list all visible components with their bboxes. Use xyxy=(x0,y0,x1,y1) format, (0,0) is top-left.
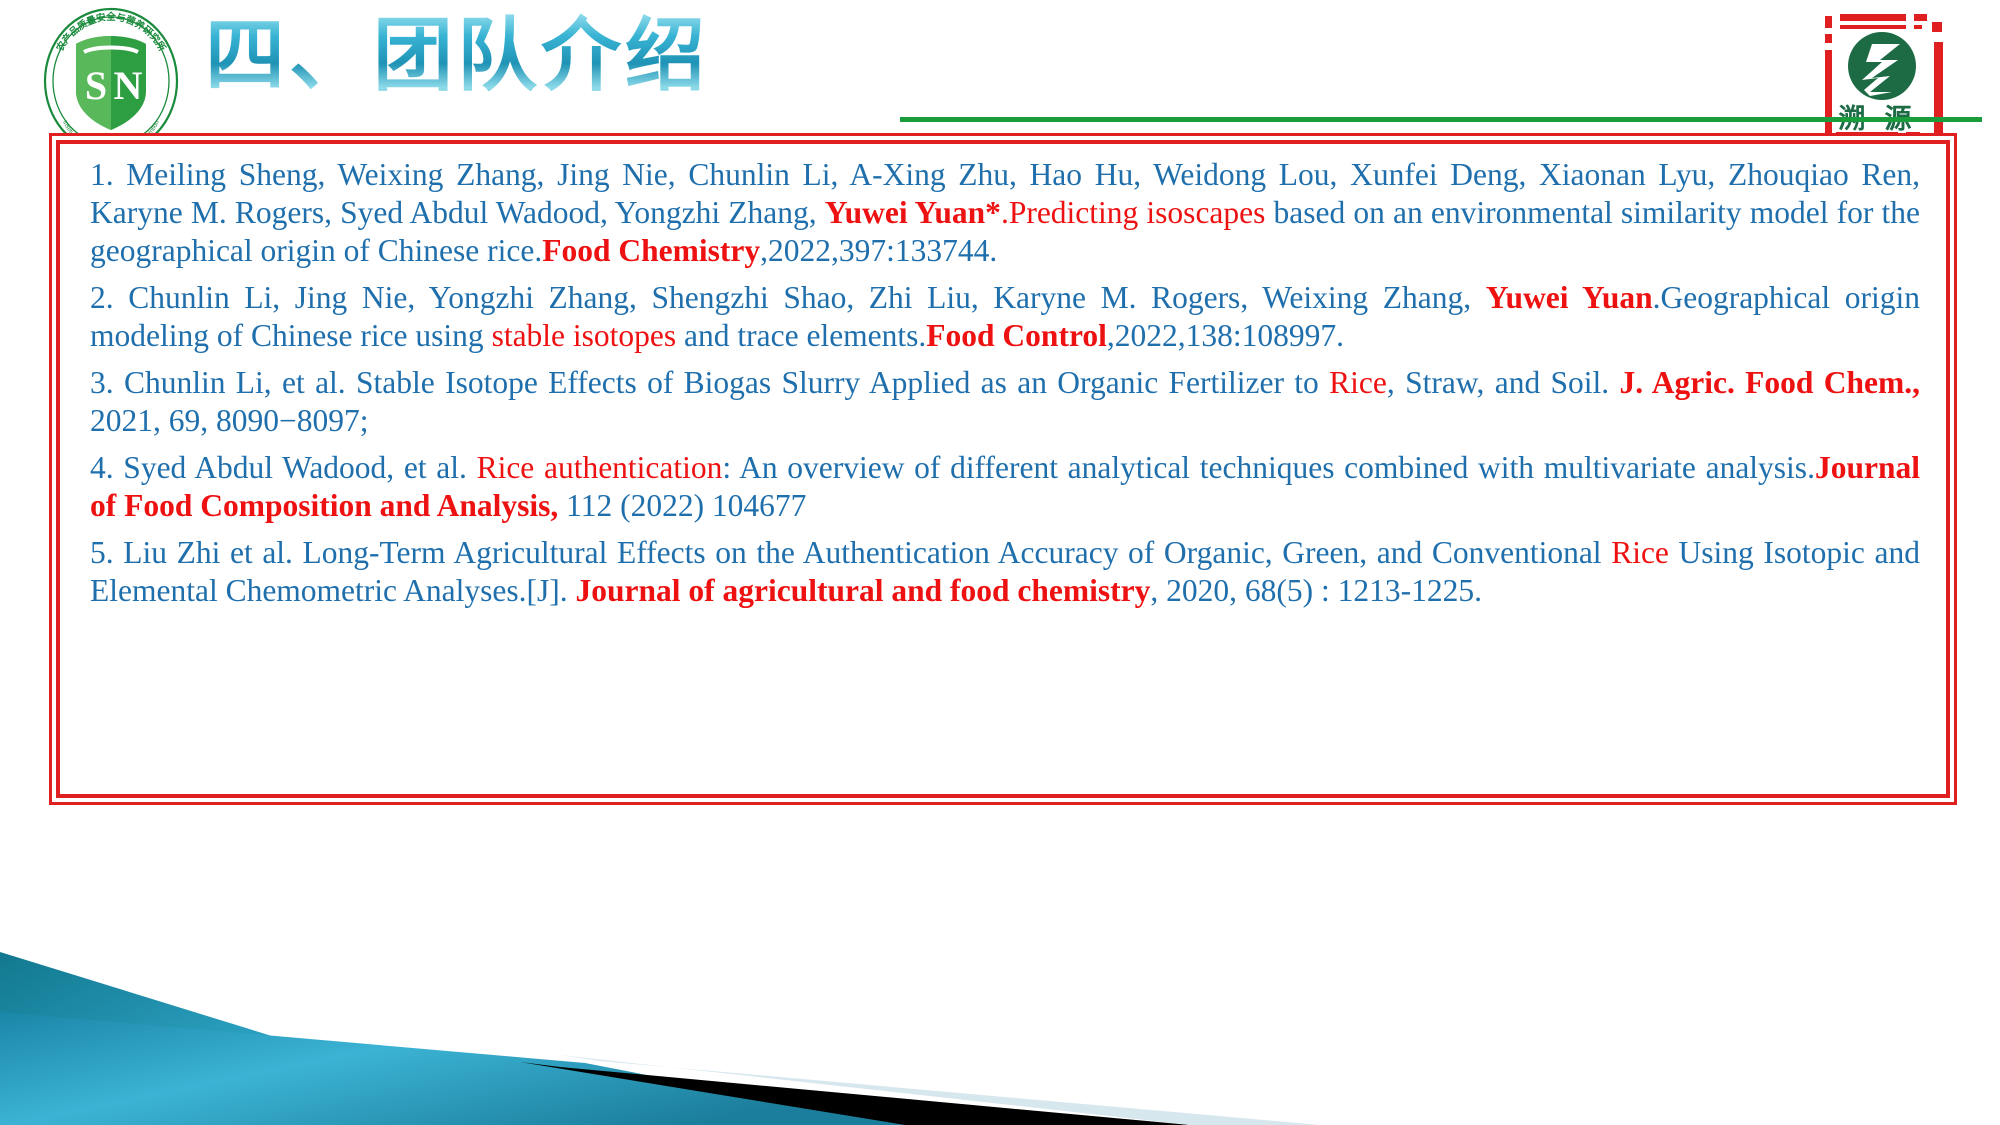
reference-segment: Food Chemistry xyxy=(542,233,760,268)
references-list: 1. Meiling Sheng, Weixing Zhang, Jing Ni… xyxy=(90,156,1920,609)
ribbon-teal-upper xyxy=(0,952,560,1125)
reference-segment: ,2022,138:108997. xyxy=(1107,318,1344,353)
reference-segment: : An overview of different analytical te… xyxy=(722,450,1815,485)
ribbon-black xyxy=(520,1062,1190,1125)
page-title: 四、团队介绍 xyxy=(205,10,709,102)
reference-segment: 3. Chunlin Li, et al. Stable Isotope Eff… xyxy=(90,365,1329,400)
reference-segment: Rice authentication xyxy=(477,450,723,485)
reference-segment: 4. Syed Abdul Wadood, et al. xyxy=(90,450,477,485)
reference-segment: Yuwei Yuan xyxy=(1486,280,1653,315)
traceability-logo: 溯 源 xyxy=(1814,4,1982,144)
reference-item: 5. Liu Zhi et al. Long-Term Agricultural… xyxy=(90,534,1920,610)
reference-segment: Journal of agricultural and food chemist… xyxy=(576,573,1151,608)
reference-segment: 2. Chunlin Li, Jing Nie, Yongzhi Zhang, … xyxy=(90,280,1486,315)
reference-segment: isoscapes xyxy=(1146,195,1265,230)
reference-item: 1. Meiling Sheng, Weixing Zhang, Jing Ni… xyxy=(90,156,1920,270)
reference-item: 3. Chunlin Li, et al. Stable Isotope Eff… xyxy=(90,364,1920,440)
svg-text:N: N xyxy=(114,63,143,108)
reference-segment: 112 (2022) 104677 xyxy=(558,488,806,523)
reference-item: 4. Syed Abdul Wadood, et al. Rice authen… xyxy=(90,449,1920,525)
header-green-rule xyxy=(900,117,1982,122)
svg-text:S: S xyxy=(85,63,107,108)
reference-segment: Yuwei Yuan* xyxy=(825,195,1001,230)
institute-logo: S N 2002 农产品质量安全与营养研究所 Institute of Agro… xyxy=(36,6,186,156)
reference-segment: 2021, 69, 8090−8097; xyxy=(90,403,369,438)
reference-segment: Rice xyxy=(1611,535,1669,570)
reference-item: 2. Chunlin Li, Jing Nie, Yongzhi Zhang, … xyxy=(90,279,1920,355)
reference-segment: , 2020, 68(5) : 1213-1225. xyxy=(1150,573,1482,608)
ribbon-teal-main xyxy=(0,1012,905,1125)
reference-segment: 5. Liu Zhi et al. Long-Term Agricultural… xyxy=(90,535,1611,570)
ribbon-white xyxy=(585,1050,1420,1125)
reference-segment: and trace elements. xyxy=(676,318,926,353)
reference-segment: Rice xyxy=(1329,365,1387,400)
reference-segment: stable isotopes xyxy=(492,318,677,353)
reference-segment: J. Agric. Food Chem., xyxy=(1620,365,1920,400)
reference-segment: , Straw, and Soil. xyxy=(1387,365,1620,400)
reference-segment: Food Control xyxy=(926,318,1107,353)
slide-header: S N 2002 农产品质量安全与营养研究所 Institute of Agro… xyxy=(0,0,2000,150)
reference-segment: .Predicting xyxy=(1001,195,1146,230)
ribbon-pale xyxy=(560,1055,1320,1125)
references-frame: 1. Meiling Sheng, Weixing Zhang, Jing Ni… xyxy=(56,140,1950,798)
reference-segment: ,2022,397:133744. xyxy=(760,233,997,268)
